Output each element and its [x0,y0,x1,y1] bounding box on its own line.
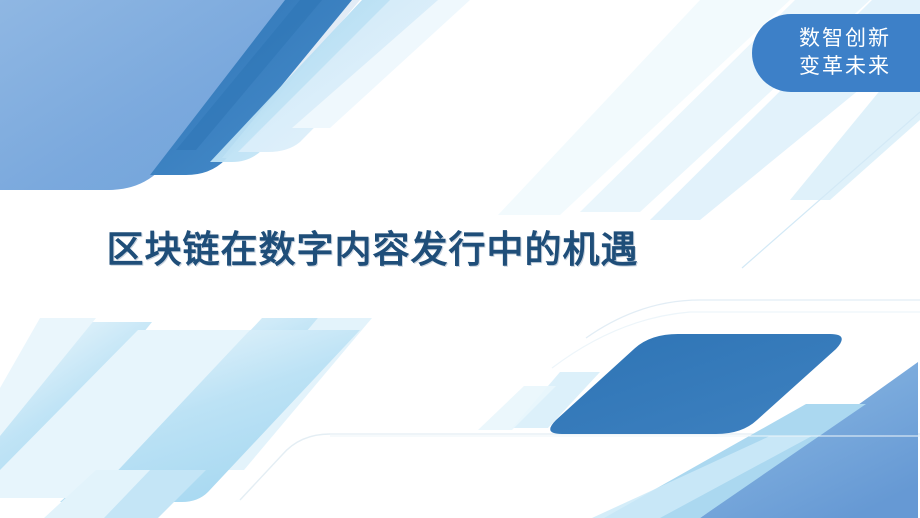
page-title: 区块链在数字内容发行中的机遇 [107,228,639,272]
badge-line-2: 变革未来 [781,53,891,81]
badge-line-1: 数智创新 [781,25,891,53]
slide-canvas: 数智创新 变革未来 区块链在数字内容发行中的机遇 [0,0,920,518]
title-block: 区块链在数字内容发行中的机遇 [0,228,745,272]
corner-badge: 数智创新 变革未来 [752,14,920,92]
